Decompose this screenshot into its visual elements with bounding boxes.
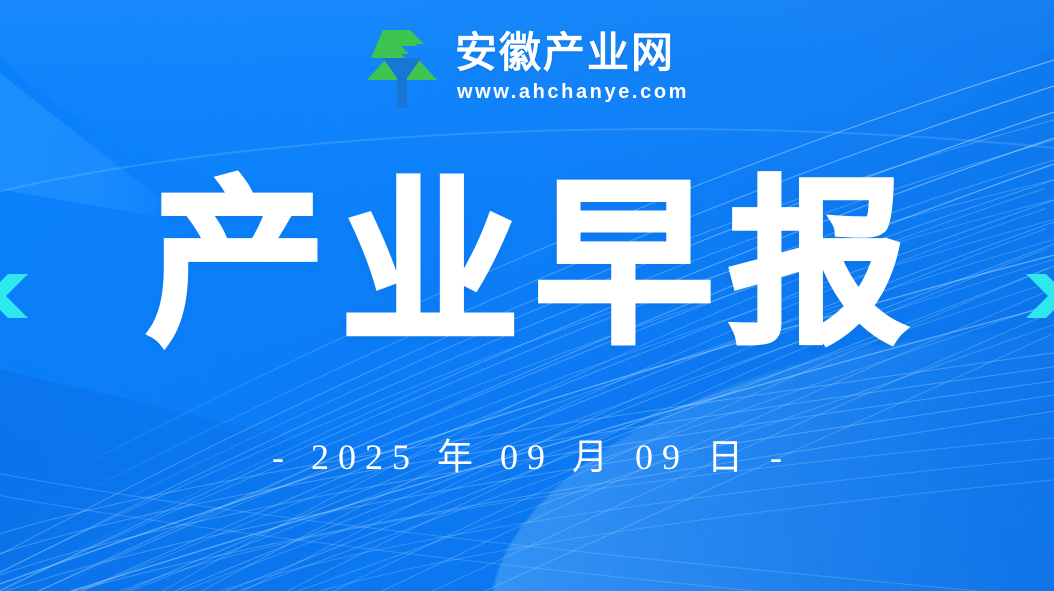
tree-arrow-logo-icon (365, 28, 439, 110)
brand-name: 安徽产业网 (455, 31, 675, 75)
industry-morning-report-banner: 安徽产业网 www.ahchanye.com 产业早报 - 2025 年 09 … (0, 0, 1054, 591)
page-title: 产业早报 (0, 176, 1054, 354)
brand-url: www.ahchanye.com (455, 77, 689, 107)
brand-header: 安徽产业网 www.ahchanye.com (0, 28, 1054, 110)
dateline: - 2025 年 09 月 09 日 - (0, 428, 1054, 480)
brand-text-block: 安徽产业网 www.ahchanye.com (455, 31, 689, 107)
